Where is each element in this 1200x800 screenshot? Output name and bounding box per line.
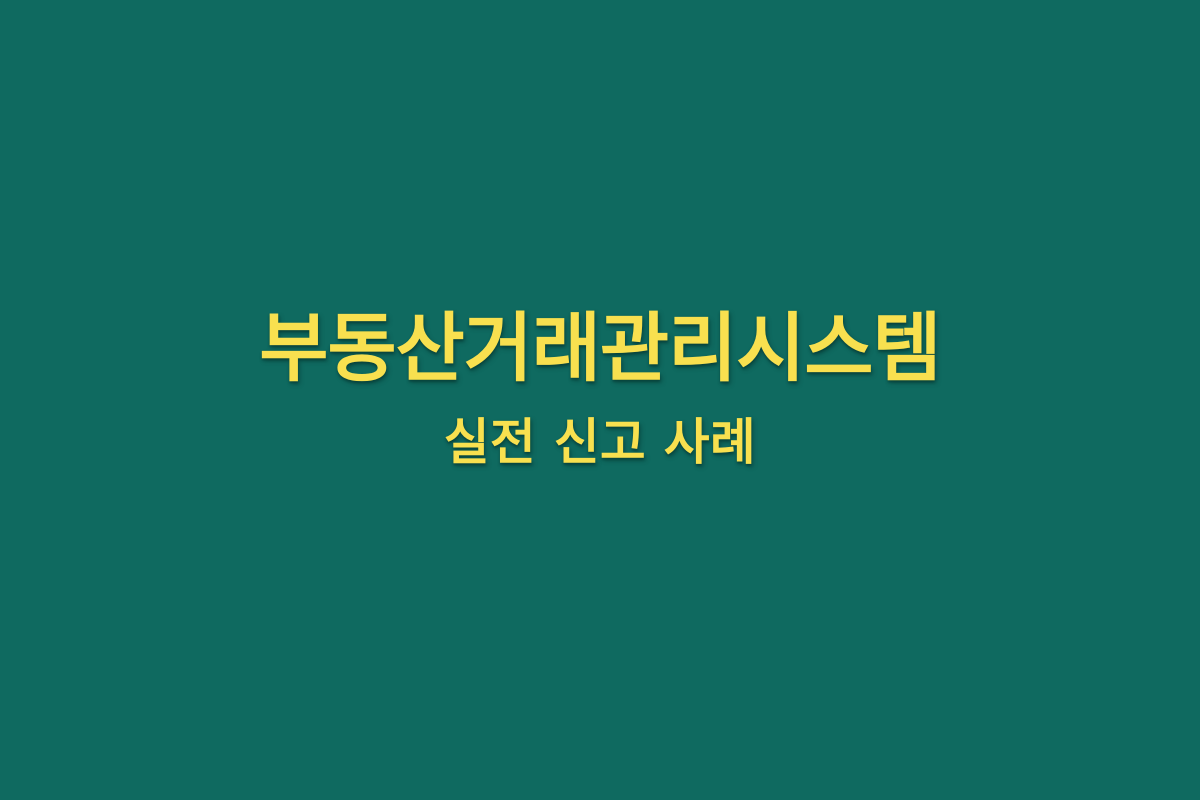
- title-block: 부동산거래관리시스템 실전 신고 사례: [0, 310, 1200, 468]
- title-line-secondary: 실전 신고 사례: [0, 417, 1200, 468]
- title-line-primary: 부동산거래관리시스템: [0, 310, 1200, 387]
- poster-canvas: 부동산거래관리시스템 실전 신고 사례: [0, 0, 1200, 800]
